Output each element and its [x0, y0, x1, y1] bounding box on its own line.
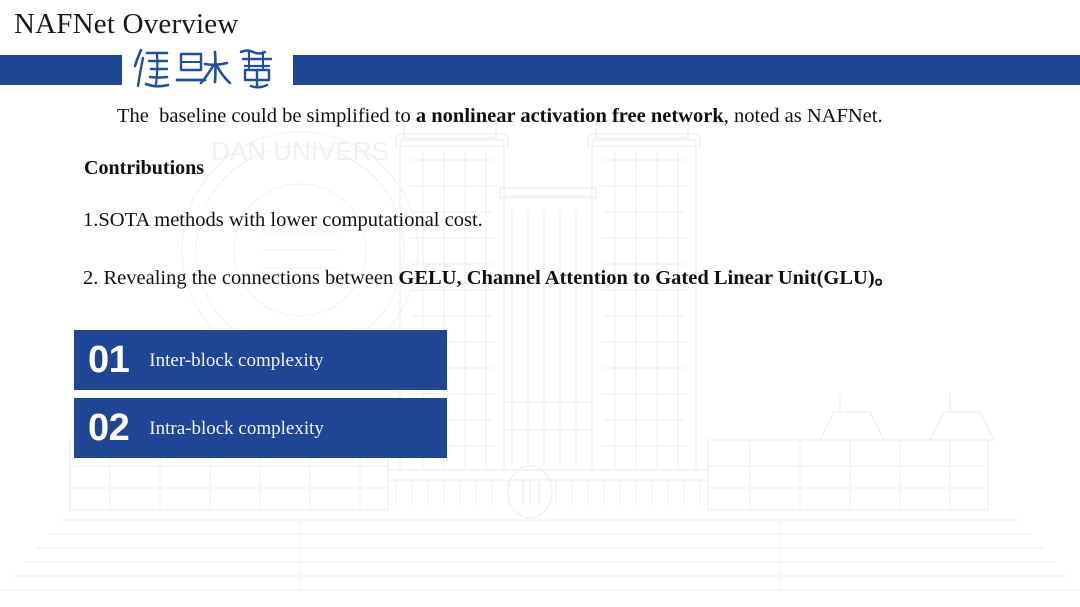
- contributions-heading: Contributions: [84, 157, 204, 180]
- numbered-box-02-label: Intra-block complexity: [149, 419, 324, 438]
- numbered-box-01: 01 Inter-block complexity: [74, 330, 447, 390]
- lead-sentence: The baseline could be simplified to a no…: [117, 105, 883, 128]
- slide-canvas: DAN UNIVERS 1905: [0, 0, 1080, 607]
- contribution-2-after: 。: [875, 267, 896, 289]
- lead-sentence-after: , noted as NAFNet.: [724, 105, 883, 127]
- numbered-box-01-label: Inter-block complexity: [149, 351, 323, 370]
- numbered-box-01-number: 01: [88, 341, 129, 379]
- numbered-box-02-number: 02: [88, 409, 129, 447]
- header-accent-bar-left: [0, 55, 122, 85]
- numbered-box-02: 02 Intra-block complexity: [74, 398, 447, 458]
- header-accent-bar-right: [293, 55, 1080, 85]
- contribution-item-1: 1.SOTA methods with lower computational …: [83, 209, 483, 232]
- lead-sentence-emphasis: a nonlinear activation free network: [416, 105, 724, 127]
- contribution-item-2: 2. Revealing the connections between GEL…: [83, 260, 895, 290]
- page-title: NAFNet Overview: [14, 4, 238, 44]
- lead-sentence-before: The baseline could be simplified to: [117, 105, 416, 127]
- contribution-2-before: 2. Revealing the connections between: [83, 267, 398, 289]
- fudan-university-logo: [133, 40, 285, 95]
- svg-text:DAN UNIVERS: DAN UNIVERS: [211, 136, 389, 166]
- contribution-2-emphasis: GELU, Channel Attention to Gated Linear …: [398, 267, 874, 289]
